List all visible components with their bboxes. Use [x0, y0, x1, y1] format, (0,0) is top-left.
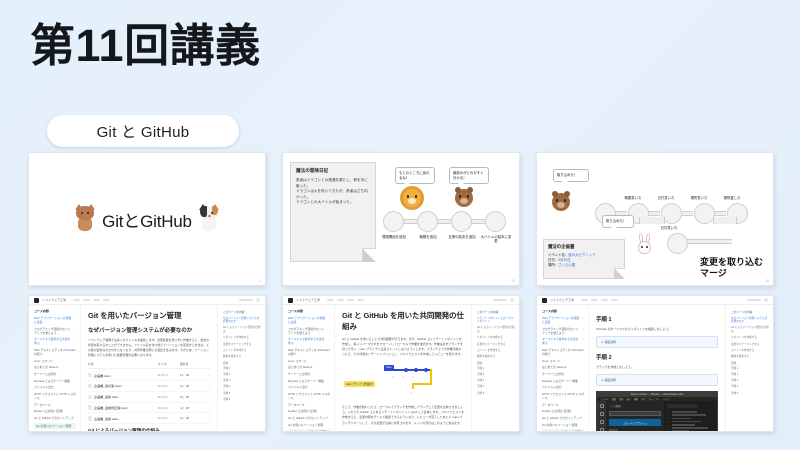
bear-icon [552, 193, 570, 211]
commit-message-input[interactable] [609, 411, 661, 416]
adventure-note-card: 魔法の冒険日記 勇者はドラゴンとの遭遇を果たし、剣を手に取った。 ドラゴンは火を… [290, 162, 376, 262]
plan-row-3: 場所：さくら公園 [548, 263, 620, 268]
col-name: 名前 [88, 362, 158, 366]
sidebar-item-12[interactable]: Git と GitHub でのセットアップ [288, 416, 330, 420]
chevron-right-icon: › [75, 327, 76, 335]
toc-title: このページの内容 [731, 310, 769, 314]
file-icon [88, 384, 92, 389]
doc-page: ソフトウェア工学 コース内容 Web アプリケーションの基礎と実装› プログラミ… [283, 296, 519, 431]
toc-item-6: 目次 [731, 361, 769, 365]
subtitle-badge: Git と GitHub [47, 115, 239, 147]
plan-row-3-label: 場所： [548, 263, 558, 267]
merge-caption-line1: 変更を取り込む [700, 257, 763, 268]
slide-number: 1 [259, 279, 261, 283]
editor-tab[interactable] [667, 404, 697, 408]
commit-push-button[interactable]: コミットしてプッシュ [609, 419, 661, 426]
sidebar-item-11[interactable]: Docker とは何か (応用) [34, 409, 76, 413]
doc-heading-3: Git によるバージョン管理の仕組み [88, 428, 210, 431]
subtitle-badge-label: Git と GitHub [97, 121, 190, 142]
toc-item-7[interactable]: 手順 1 [477, 367, 515, 371]
plan-row-1-value: 謎の大ピクニック [568, 253, 595, 257]
doc-toc[interactable]: このページの内容 リモートリポジトリとローカルリポジトリ Git によるバージョ… [471, 305, 519, 431]
commit-label-4: 大バトルの結末に変更 [480, 235, 512, 244]
toc-item-1[interactable]: Git によるバージョン管理の仕組み [731, 326, 769, 334]
yellow-branch-tag: login ブランチ (作業中) [344, 381, 375, 387]
page-title: 第11回講義 [30, 22, 261, 69]
toc-item-7[interactable]: 手順 1 [223, 367, 261, 371]
toc-item-10[interactable]: 手順 4 [731, 385, 769, 389]
table-row[interactable]: 企画書_最新.docx 0 バイト 14：08 ⋯ [88, 392, 210, 403]
sidebar-item-2[interactable]: ターミナルで操作する方法を学ぶ⌄ [288, 337, 330, 345]
sidebar-item-8[interactable]: ファイル入出力 [542, 385, 584, 389]
toc-item-3[interactable]: 変更をステージングする [223, 343, 261, 347]
sidebar-item-4[interactable]: Linux コマンド [34, 359, 76, 363]
slide-thumbnail-3[interactable]: 取り込めた！ 概要書いた 日付書いた 場所書いた 場所直した 日付書い [536, 152, 774, 286]
toc-title: このページの内容 [223, 310, 261, 314]
toc-item-9[interactable]: 手順 3 [477, 379, 515, 383]
sidebar-item-0[interactable]: Web アプリケーションの基礎と実装› [34, 316, 76, 324]
slide-thumbnail-2[interactable]: 魔法の冒険日記 勇者はドラゴンとの遭遇を果たし、剣を手に取った。 ドラゴンは火を… [282, 152, 520, 286]
vscode-list-item-0[interactable]: 変更内容 [609, 430, 661, 431]
step1-title: 手順 1 [596, 315, 718, 323]
branch-diagram-2: main login ブランチ (作業中) ↗ ↗ ↗ ↗ [342, 430, 464, 431]
sidebar-item-3[interactable]: Web テキストエディタ (VSCode) の紹介 [288, 348, 330, 356]
avatar[interactable] [510, 298, 514, 302]
note-line-2: ドラゴンは火を吹いてきたが、勇者は立ち向かった。 [296, 189, 370, 200]
slide-thumbnail-5[interactable]: ソフトウェア工学 コース内容 Web アプリケーションの基礎と実装› プログラミ… [282, 295, 520, 432]
vscode-panel-title: ソース管理 [609, 404, 661, 408]
sidebar-item-3[interactable]: Web テキストエディタ (VSCode) の紹介 [34, 348, 76, 356]
toc-item-8[interactable]: 手順 2 [477, 373, 515, 377]
toc-item-11[interactable]: 手順 5 [731, 392, 769, 396]
doc-topbar: ソフトウェア工学 [283, 296, 519, 305]
sidebar-item-11[interactable]: Docker とは何か (応用) [288, 409, 330, 413]
toc-item-4[interactable]: コミットを作成する [477, 349, 515, 353]
sidebar-item-4[interactable]: Linux コマンド [288, 359, 330, 363]
row-menu-icon[interactable]: ⋯ [206, 406, 210, 410]
sidebar-item-10[interactable]: データベース [542, 403, 584, 407]
toc-item-7[interactable]: 手順 1 [731, 367, 769, 371]
table-row[interactable]: 企画書_最新.docx 0 バイト 14：08 ⋯ [88, 413, 210, 424]
doc-brand: ソフトウェア工学 [296, 298, 320, 302]
title-slide-content: GitとGitHub [29, 153, 265, 285]
note-title: 魔法の冒険日記 [296, 168, 370, 174]
commit-label-3: 友情の結末を追加 [446, 235, 478, 239]
site-logo-icon [542, 298, 547, 303]
toc-item-5[interactable]: 履歴を確認する [477, 355, 515, 359]
toc-item-4[interactable]: コミットを作成する [731, 349, 769, 353]
sidebar-item-5[interactable]: はじめての Node.js [288, 365, 330, 369]
sidebar-item-12[interactable]: Git と GitHub でのセットアップ [542, 416, 584, 420]
branch-diagram-1: main login ブランチ (作業中) ↗ ↗ ↗ ↗ [342, 361, 464, 401]
doc-topnav[interactable] [581, 299, 618, 301]
speech-bubble-1: 取り込めた！ [553, 169, 589, 182]
doc-topright[interactable] [493, 298, 514, 302]
file-icon [88, 373, 92, 378]
plan-row-2-label: 日付： [548, 258, 558, 262]
table-row[interactable]: 企画書_改訂版.docx 0 バイト 14：08 ⋯ [88, 381, 210, 392]
line-numbers: 12345678910 [667, 411, 669, 431]
vscode-screenshot: Source Control — VSCode — Visual Studio … [596, 391, 718, 431]
commit-label-2: 戦闘を追加 [412, 235, 444, 239]
toc-item-0[interactable]: なぜバージョン管理システムが必要なのか [223, 317, 261, 325]
doc-content: Git と GitHub を用いた共同開発の仕組み Git と GitHub を… [335, 305, 471, 431]
plan-row-1-label: イベント名： [548, 253, 568, 257]
sidebar-item-2[interactable]: ターミナルで操作する方法を学ぶ⌄ [34, 337, 76, 345]
sidebar-item-0[interactable]: Web アプリケーションの基礎と実装› [542, 316, 584, 324]
doc-topbar: ソフトウェア工学 [29, 296, 265, 305]
sidebar-item-6[interactable]: サーバーとは何か [288, 372, 330, 376]
sidebar-item-5[interactable]: はじめての Node.js [34, 365, 76, 369]
toc-item-8[interactable]: 手順 2 [223, 373, 261, 377]
site-logo-icon [288, 298, 293, 303]
doc-topnav[interactable] [73, 299, 110, 301]
sidebar-item-2[interactable]: ターミナルで操作する方法を学ぶ⌄ [542, 337, 584, 345]
sidebar-item-13[interactable]: Git を用いたバージョン管理 [542, 423, 584, 427]
step1-text: VSCode のターミナルからリポジトリを複製しましょう。 [596, 327, 718, 332]
sidebar-item-1[interactable]: プログラミング環境のセットアップを整えよう› [288, 327, 330, 335]
sidebar-item-14-active[interactable]: Git と GitHub を用いた共同開発 [542, 429, 584, 432]
sidebar-item-12[interactable]: Git と GitHub でのセットアップ [34, 416, 76, 420]
sidebar-item-8[interactable]: ファイル入出力 [34, 385, 76, 389]
table-row[interactable]: 企画書.docx 0 バイト 14：08 ⋯ [88, 370, 210, 381]
row-menu-icon[interactable]: ⋯ [206, 384, 210, 388]
toc-item-6: 目次 [223, 361, 261, 365]
code-lines [672, 411, 714, 431]
chevron-right-icon: › [583, 316, 584, 324]
row-menu-icon[interactable]: ⋯ [206, 395, 210, 399]
doc-brand: ソフトウェア工学 [42, 298, 66, 302]
sidebar-item-13-active[interactable]: Git を用いたバージョン管理 [34, 423, 76, 429]
doc-content: Git を用いたバージョン管理 なぜバージョン管理システムが必要なのか ソフトウ… [81, 305, 217, 431]
step2-text: ブランチを作成しましょう。 [596, 365, 718, 370]
toc-item-1[interactable]: Git によるバージョン管理の仕組み [477, 326, 515, 334]
merge-caption: 変更を取り込む マージ [700, 257, 763, 280]
doc-page: ソフトウェア工学 コース内容 Web アプリケーションの基礎と実装› プログラミ… [29, 296, 265, 431]
merge-commit-label-4: 場所直した [718, 195, 746, 200]
toc-item-3[interactable]: 変更をステージングする [477, 343, 515, 347]
chevron-right-icon: › [329, 316, 330, 324]
toc-item-11[interactable]: 手順 5 [477, 392, 515, 396]
doc-toc[interactable]: このページの内容 なぜバージョン管理システムが必要なのか Git によるバージョ… [217, 305, 265, 431]
sidebar-item-10[interactable]: データベース [34, 403, 76, 407]
toc-item-12[interactable]: 手順 6 [223, 398, 261, 402]
plan-row-3-value: さくら公園 [558, 263, 575, 267]
slide-thumbnail-6[interactable]: ソフトウェア工学 コース内容 Web アプリケーションの基礎と実装› プログラミ… [536, 295, 774, 432]
bear-icon [455, 189, 473, 207]
merge-commit-label-1: 概要書いた [619, 195, 647, 200]
file-icon [88, 405, 92, 410]
doc-content: 手順 1 VSCode のターミナルからリポジトリを複製しましょう。 ＋ 補足説… [589, 305, 725, 431]
toc-item-11[interactable]: 手順 5 [223, 392, 261, 396]
toc-item-2[interactable]: リポジトリを作成する [223, 336, 261, 340]
doc-page: ソフトウェア工学 コース内容 Web アプリケーションの基礎と実装› プログラミ… [537, 296, 773, 431]
doc-brand: ソフトウェア工学 [550, 298, 574, 302]
sidebar-item-8[interactable]: ファイル入出力 [288, 385, 330, 389]
toc-item-5[interactable]: 履歴を確認する [223, 355, 261, 359]
sidebar-item-0[interactable]: Web アプリケーションの基礎と実装› [288, 316, 330, 324]
file-icon [88, 395, 92, 400]
toc-title: このページの内容 [477, 310, 515, 314]
slide-thumbnail-4[interactable]: ソフトウェア工学 コース内容 Web アプリケーションの基礎と実装› プログラミ… [28, 295, 266, 432]
slide1-title: GitとGitHub [102, 207, 192, 232]
chevron-down-icon: ⌄ [328, 337, 330, 345]
note-line-1: 勇者はドラゴンとの遭遇を果たし、剣を手に取った。 [296, 178, 370, 189]
sidebar-item-1[interactable]: プログラミング環境のセットアップを整えよう› [34, 327, 76, 335]
toc-item-3[interactable]: 変更をステージングする [731, 343, 769, 347]
speech-bubble-2: 取り込めた！ [602, 215, 634, 228]
chevron-right-icon: › [329, 327, 330, 335]
chevron-down-icon: ⌄ [582, 337, 584, 345]
commit-chain: 冒険開始を追加 戦闘を追加 友情の結末を追加 大バトルの結末に変更 [383, 211, 513, 233]
speech-bubble-2: 最新のがどれかすぐ分かる！ [449, 167, 489, 184]
sidebar-section-title: コース内容 [288, 309, 330, 313]
doc-sidebar[interactable]: コース内容 Web アプリケーションの基礎と実装› プログラミング環境のセットア… [29, 305, 81, 431]
doc-topright[interactable] [747, 298, 768, 302]
sidebar-item-7[interactable]: Express によるサーバー構築 [542, 379, 584, 383]
plan-row-2-value: 4月20日 [558, 258, 570, 262]
branch-commit-label: 日付書いた [655, 225, 683, 230]
rabbit-icon [637, 235, 652, 255]
row-menu-icon[interactable]: ⋯ [206, 416, 210, 420]
row-menu-icon[interactable]: ⋯ [206, 373, 210, 377]
doc-heading-1: Git と GitHub を用いた共同開発の仕組み [342, 310, 464, 332]
slide-thumbnail-1[interactable]: GitとGitHub 1 [28, 152, 266, 286]
doc-toc[interactable]: このページの内容 なぜバージョン管理システムが必要なのか Git によるバージョ… [725, 305, 773, 431]
sidebar-item-11[interactable]: Docker とは何か (応用) [542, 409, 584, 413]
sidebar-item-13[interactable]: Git を用いたバージョン管理 [288, 423, 330, 427]
toc-item-1[interactable]: Git によるバージョン管理の仕組み [223, 326, 261, 334]
source-control-icon[interactable] [600, 420, 604, 424]
cat-brown-icon [74, 206, 96, 232]
chevron-down-icon: ⌄ [74, 337, 76, 345]
file-table: 名前 サイズ 更新日 企画書.docx 0 バイト 14：08 ⋯ 企 [88, 362, 210, 424]
sidebar-item-14-active[interactable]: Git と GitHub を用いた共同開発 [288, 429, 330, 432]
sidebar-item-1[interactable]: プログラミング環境のセットアップを整えよう› [542, 327, 584, 335]
doc-topnav[interactable] [327, 299, 364, 301]
toc-item-0[interactable]: なぜバージョン管理システムが必要なのか [731, 317, 769, 325]
doc-paragraph-2: そして、作業が終わったら、ローカルでブランチを作成しブランチ上で変更を反映させま… [342, 405, 464, 425]
lion-icon [403, 189, 421, 207]
explorer-icon[interactable] [600, 404, 604, 408]
toc-item-10[interactable]: 手順 4 [477, 385, 515, 389]
slide-thumbnail-grid: GitとGitHub 1 魔法の冒険日記 勇者はドラゴンとの遭遇を果たし、剣を手… [28, 152, 774, 432]
vscode-activitybar[interactable] [597, 401, 606, 431]
merge-commit-label-3: 場所書いた [685, 195, 713, 200]
toc-item-8[interactable]: 手順 2 [731, 373, 769, 377]
sidebar-item-7[interactable]: Express によるサーバー構築 [288, 379, 330, 383]
merge-commit-label-2: 日付書いた [652, 195, 680, 200]
doc-paragraph-1: Git と GitHub を用いることで共同開発が行えます。まず、GitHub … [342, 337, 464, 357]
sidebar-item-6[interactable]: サーバーとは何か [542, 372, 584, 376]
toc-item-10[interactable]: 手順 4 [223, 385, 261, 389]
note-line-3: ドラゴンとの大バトルが始まった。 [296, 200, 370, 206]
doc-paragraph-1: ソフトウェア開発では多くのファイルを編集します。変更履歴を残さずに作業すると、過… [88, 338, 210, 358]
sidebar-item-3[interactable]: Web テキストエディタ (VSCode) の紹介 [542, 348, 584, 356]
doc-topbar: ソフトウェア工学 [537, 296, 773, 305]
plan-card: 魔法の企画書 イベント名：謎の大ピクニック 日付：4月20日 場所：さくら公園 [543, 239, 625, 279]
doc-topright[interactable] [239, 298, 260, 302]
doc-heading-2: なぜバージョン管理システムが必要なのか [88, 326, 210, 334]
file-icon [88, 416, 92, 421]
sidebar-section-title: コース内容 [34, 309, 76, 313]
file-table-header: 名前 サイズ 更新日 [88, 362, 210, 369]
vscode-editor[interactable]: 12345678910 [664, 401, 717, 431]
sidebar-item-4[interactable]: Linux コマンド [542, 359, 584, 363]
toc-item-5[interactable]: 履歴を確認する [731, 355, 769, 359]
chevron-right-icon: › [75, 316, 76, 324]
toc-item-9[interactable]: 手順 3 [731, 379, 769, 383]
avatar[interactable] [764, 298, 768, 302]
sidebar-item-7[interactable]: Express によるサーバー構築 [34, 379, 76, 383]
toc-item-6: 目次 [477, 361, 515, 365]
sidebar-item-9[interactable]: HTTP リクエストと HTTP レスポンス [542, 392, 584, 400]
sidebar-item-6[interactable]: サーバーとは何か [34, 372, 76, 376]
search-icon[interactable] [600, 412, 604, 416]
slide-number: 18 [765, 279, 769, 283]
sidebar-section-title: コース内容 [542, 309, 584, 313]
sidebar-item-5[interactable]: はじめての Node.js [542, 365, 584, 369]
branch-tag: main [384, 365, 394, 369]
cat-calico-icon [198, 206, 220, 232]
col-size: サイズ [158, 362, 180, 366]
step2-callout[interactable]: ＋ 補足説明 [596, 374, 718, 386]
chevron-right-icon: › [583, 327, 584, 335]
plan-title: 魔法の企画書 [548, 244, 620, 250]
slide-number: 12 [511, 279, 515, 283]
step1-callout[interactable]: ＋ 補足説明 [596, 336, 718, 348]
toc-item-2[interactable]: リポジトリを作成する [477, 336, 515, 340]
site-logo-icon [34, 298, 39, 303]
debug-icon[interactable] [600, 428, 604, 431]
avatar[interactable] [256, 298, 260, 302]
speech-bubble-1: もとのところに戻れるね！ [395, 167, 435, 184]
merge-caption-line2: マージ [700, 268, 763, 279]
doc-sidebar[interactable]: コース内容 Web アプリケーションの基礎と実装› プログラミング環境のセットア… [537, 305, 589, 431]
sidebar-item-9[interactable]: HTTP リクエストと HTTP レスポンス [34, 392, 76, 400]
col-date: 更新日 [180, 362, 206, 366]
toc-item-0[interactable]: リモートリポジトリとローカルリポジトリ [477, 317, 515, 325]
table-row[interactable]: 企画書_最終修正版.docx 0 バイト 14：08 ⋯ [88, 403, 210, 414]
vscode-sidebar: ソース管理 コミットしてプッシュ 変更内容 ステージされた変更 マージ [606, 401, 664, 431]
sidebar-item-14[interactable]: Git と GitHub を用いた共同開発 [34, 431, 76, 432]
sidebar-item-10[interactable]: データベース [288, 403, 330, 407]
toc-item-2[interactable]: リポジトリを作成する [731, 336, 769, 340]
step2-title: 手順 2 [596, 353, 718, 361]
sidebar-item-9[interactable]: HTTP リクエストと HTTP レスポンス [288, 392, 330, 400]
vscode-window-title: Source Control — VSCode — Visual Studio … [631, 393, 684, 396]
toc-item-4[interactable]: コミットを作成する [223, 349, 261, 353]
toc-item-9[interactable]: 手順 3 [223, 379, 261, 383]
commit-label-1: 冒険開始を追加 [378, 235, 410, 239]
doc-heading-1: Git を用いたバージョン管理 [88, 310, 210, 321]
doc-sidebar[interactable]: コース内容 Web アプリケーションの基礎と実装› プログラミング環境のセットア… [283, 305, 335, 431]
